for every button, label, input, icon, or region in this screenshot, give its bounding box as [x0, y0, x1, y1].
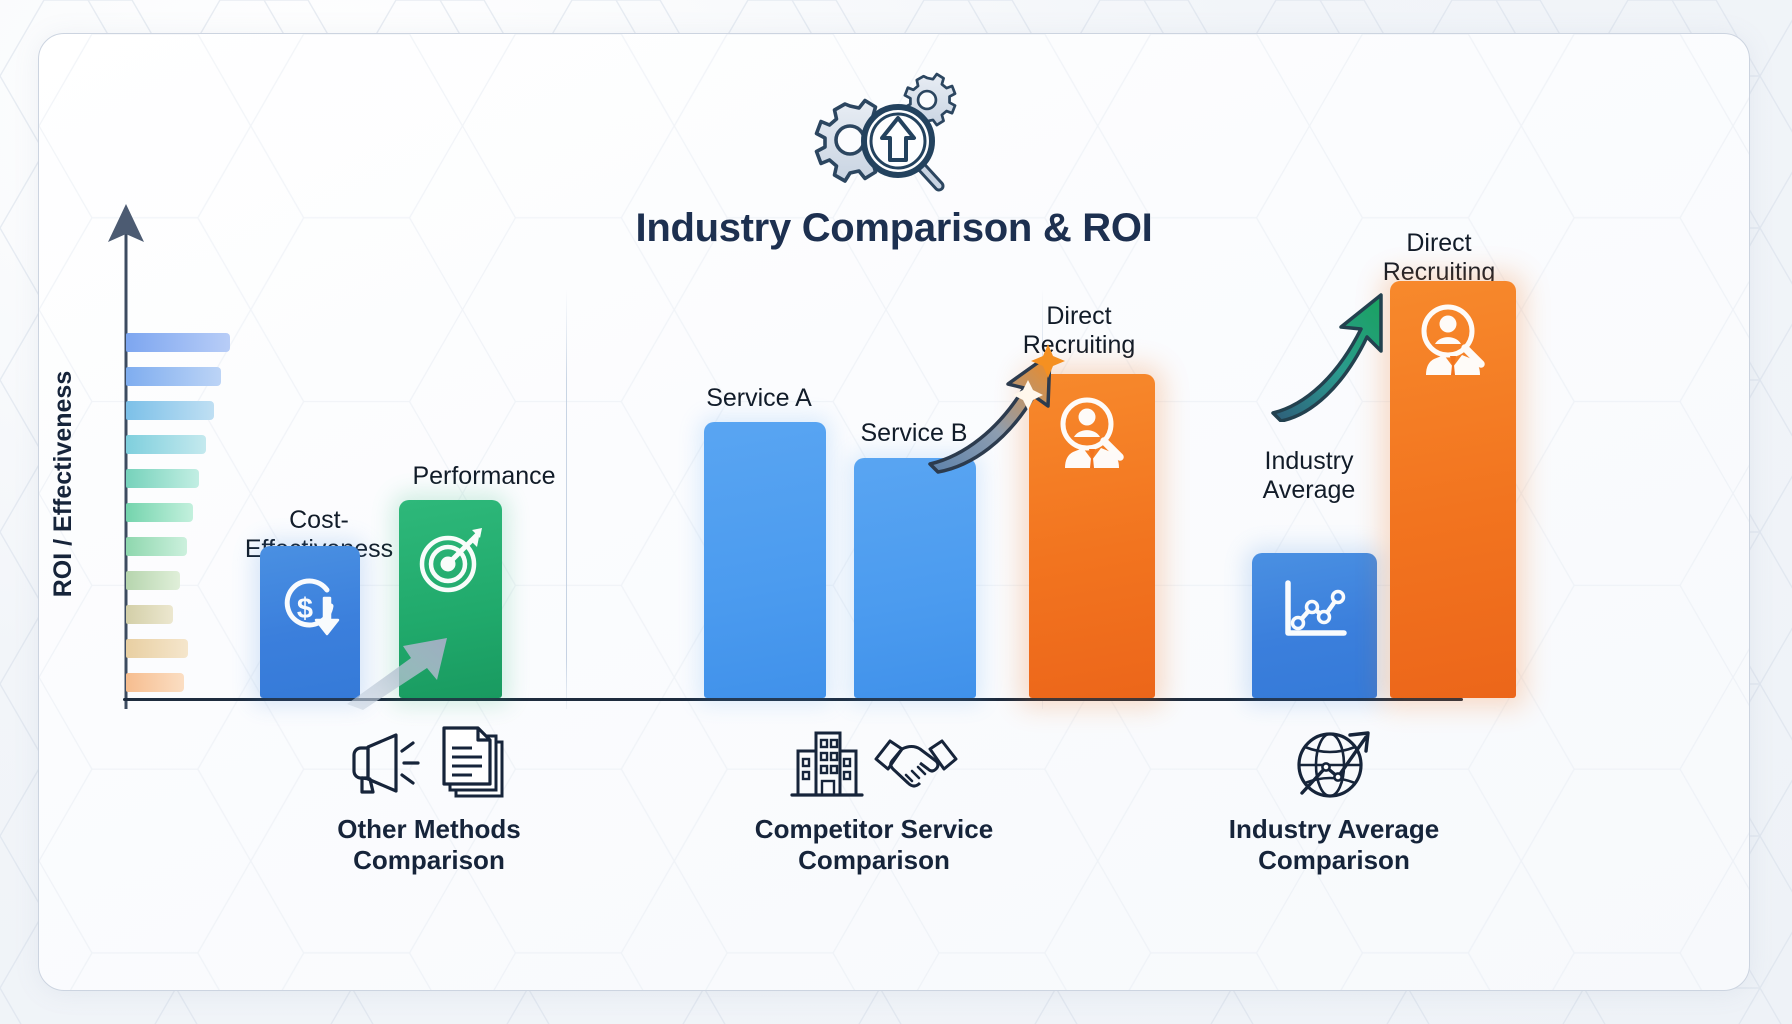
handshake-icon [872, 731, 960, 795]
scale-minibar [126, 469, 199, 488]
bar-cost-effectiveness[interactable]: $ [260, 546, 360, 698]
plot-area: ROI / Effectiveness Cost- Effectiveness [39, 34, 1750, 991]
scale-minibar [126, 435, 206, 454]
bar-label-performance: Performance [369, 462, 599, 491]
scale-minibar [126, 605, 173, 624]
group-divider [566, 289, 567, 709]
svg-text:$: $ [297, 593, 313, 625]
bar-service-a[interactable] [704, 422, 826, 698]
scale-minibar [126, 503, 193, 522]
y-axis-label: ROI / Effectiveness [49, 334, 78, 634]
category-competitor-service: Competitor Service Comparison [664, 722, 1084, 876]
bar-label-industry-average: Industry Average [1214, 447, 1404, 504]
category-icons [1292, 722, 1376, 804]
bar-label-service-b: Service B [814, 419, 1014, 448]
bar-label-service-a: Service A [659, 384, 859, 413]
dollar-down-arrow-icon: $ [272, 568, 348, 644]
green-rising-arrow-icon [1269, 287, 1409, 422]
bar-label-direct-recruiting-competitor: Direct Recruiting [979, 302, 1179, 359]
category-industry-average: Industry Average Comparison [1124, 722, 1544, 876]
category-label: Competitor Service Comparison [755, 814, 993, 876]
y-axis-arrow-icon [103, 204, 149, 709]
bar-direct-recruiting-industry[interactable] [1390, 281, 1516, 698]
office-building-icon [788, 725, 864, 801]
bar-performance[interactable] [399, 500, 502, 698]
bar-industry-average[interactable] [1252, 553, 1377, 698]
target-dart-icon [412, 522, 490, 600]
megaphone-icon [346, 729, 428, 797]
bar-label-direct-recruiting-industry: Direct Recruiting [1339, 229, 1539, 286]
category-icons [788, 722, 960, 804]
scale-minibar [126, 367, 221, 386]
person-search-icon [1049, 396, 1135, 482]
documents-icon [436, 724, 512, 802]
person-search-icon [1410, 303, 1496, 389]
category-other-methods: Other Methods Comparison [219, 722, 639, 876]
category-label: Industry Average Comparison [1229, 814, 1439, 876]
chart-card: Industry Comparison & ROI ROI / Effectiv… [38, 33, 1750, 991]
scale-minibar [126, 401, 214, 420]
line-chart-icon [1274, 575, 1356, 651]
infographic-page: Industry Comparison & ROI ROI / Effectiv… [0, 0, 1792, 1024]
x-axis-baseline [123, 698, 1463, 701]
bar-direct-recruiting-competitor[interactable] [1029, 374, 1155, 698]
scale-minibar [126, 673, 184, 692]
scale-minibar [126, 537, 187, 556]
category-icons [346, 722, 512, 804]
category-label: Other Methods Comparison [337, 814, 520, 876]
scale-minibar [126, 639, 188, 658]
scale-minibar [126, 571, 180, 590]
globe-growth-icon [1292, 723, 1376, 803]
scale-minibar [126, 333, 230, 352]
bar-service-b[interactable] [854, 458, 976, 698]
